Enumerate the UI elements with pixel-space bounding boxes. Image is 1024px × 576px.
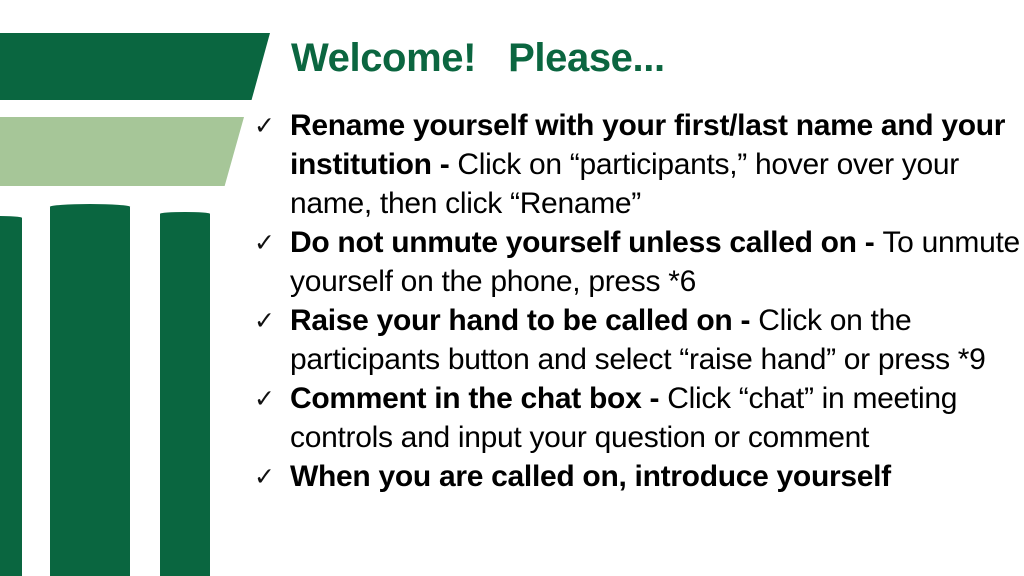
dark-green-band-shape <box>0 33 270 100</box>
list-item: ✓ Raise your hand to be called on - Clic… <box>252 301 1020 379</box>
list-item-lead: Raise your hand to be called on - <box>290 304 758 337</box>
list-item: ✓ Rename yourself with your first/last n… <box>252 106 1020 223</box>
left-decorative-graphic <box>0 0 290 576</box>
slide-canvas: Welcome! Please... ✓ Rename yourself wit… <box>0 0 1024 576</box>
check-icon: ✓ <box>254 106 275 145</box>
list-item-lead: Comment in the chat box - <box>290 382 667 415</box>
list-item: ✓ When you are called on, introduce your… <box>252 457 1020 496</box>
column-pillar-2-shape <box>50 204 130 576</box>
list-item-lead: Do not unmute yourself unless called on … <box>290 226 882 259</box>
list-item-lead: When you are called on, introduce yourse… <box>290 460 891 493</box>
light-green-band-shape <box>0 117 244 186</box>
check-icon: ✓ <box>254 301 275 340</box>
list-item: ✓ Do not unmute yourself unless called o… <box>252 223 1020 301</box>
column-pillar-1-shape <box>0 216 22 576</box>
check-icon: ✓ <box>254 457 275 496</box>
check-icon: ✓ <box>254 223 275 262</box>
list-item: ✓ Comment in the chat box - Click “chat”… <box>252 379 1020 457</box>
instructions-list: ✓ Rename yourself with your first/last n… <box>252 106 1020 496</box>
check-icon: ✓ <box>254 379 275 418</box>
column-pillar-3-shape <box>160 212 210 576</box>
page-title: Welcome! Please... <box>291 36 665 80</box>
